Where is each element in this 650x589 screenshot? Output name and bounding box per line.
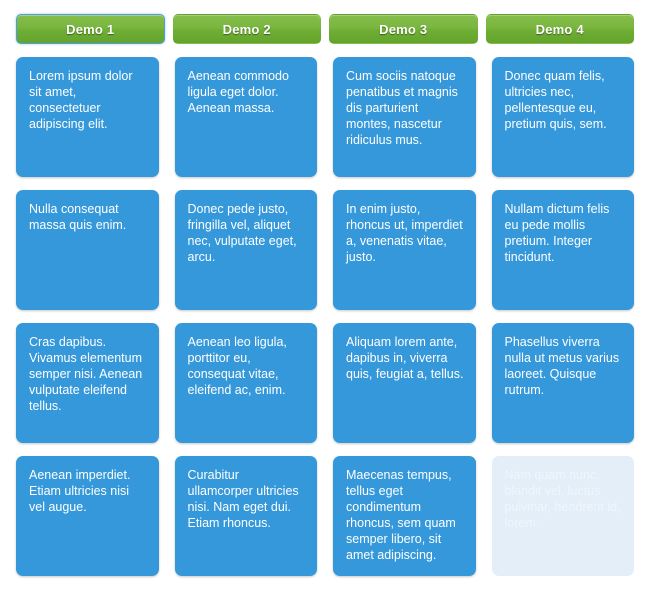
card-r3c1[interactable]: Cras dapibus. Vivamus elementum semper n… [16,323,159,443]
card-r4c1[interactable]: Aenean imperdiet. Etiam ultricies nisi v… [16,456,159,576]
card-text: Aliquam lorem ante, dapibus in, viverra … [346,334,464,382]
card-r3c3[interactable]: Aliquam lorem ante, dapibus in, viverra … [333,323,476,443]
card-r4c2[interactable]: Curabitur ullamcorper ultricies nisi. Na… [175,456,318,576]
tab-demo-4-label: Demo 4 [536,22,584,37]
card-r4c4[interactable]: Nam quam nunc, blandit vel, luctus pulvi… [492,456,635,576]
card-text: Cras dapibus. Vivamus elementum semper n… [29,334,147,414]
tab-demo-3-label: Demo 3 [379,22,427,37]
card-text: Phasellus viverra nulla ut metus varius … [505,334,623,398]
card-r1c1[interactable]: Lorem ipsum dolor sit amet, consectetuer… [16,57,159,177]
card-r4c3[interactable]: Maecenas tempus, tellus eget condimentum… [333,456,476,576]
card-r1c4[interactable]: Donec quam felis, ultricies nec, pellent… [492,57,635,177]
tab-demo-2-label: Demo 2 [223,22,271,37]
card-text: Nullam dictum felis eu pede mollis preti… [505,201,623,265]
card-text: Lorem ipsum dolor sit amet, consectetuer… [29,68,147,132]
card-text: Donec pede justo, fringilla vel, aliquet… [188,201,306,265]
card-r3c2[interactable]: Aenean leo ligula, porttitor eu, consequ… [175,323,318,443]
card-text: Nulla consequat massa quis enim. [29,201,147,233]
card-text: Aenean commodo ligula eget dolor. Aenean… [188,68,306,116]
card-grid-row: Nulla consequat massa quis enim. Donec p… [16,190,634,310]
card-text: Donec quam felis, ultricies nec, pellent… [505,68,623,132]
card-grid-row: Aenean imperdiet. Etiam ultricies nisi v… [16,456,634,576]
card-text: Nam quam nunc, blandit vel, luctus pulvi… [505,467,623,531]
demo-tabs-grid-page: Demo 1 Demo 2 Demo 3 Demo 4 Lorem ipsum … [0,0,650,589]
tab-demo-1-label: Demo 1 [66,22,114,37]
card-grid: Lorem ipsum dolor sit amet, consectetuer… [16,57,634,576]
tab-row: Demo 1 Demo 2 Demo 3 Demo 4 [16,14,634,44]
tab-demo-2[interactable]: Demo 2 [173,14,322,44]
card-text: Aenean imperdiet. Etiam ultricies nisi v… [29,467,147,515]
card-r3c4[interactable]: Phasellus viverra nulla ut metus varius … [492,323,635,443]
card-r1c2[interactable]: Aenean commodo ligula eget dolor. Aenean… [175,57,318,177]
card-text: Aenean leo ligula, porttitor eu, consequ… [188,334,306,398]
card-r2c4[interactable]: Nullam dictum felis eu pede mollis preti… [492,190,635,310]
card-text: Curabitur ullamcorper ultricies nisi. Na… [188,467,306,531]
card-r2c3[interactable]: In enim justo, rhoncus ut, imperdiet a, … [333,190,476,310]
card-text: In enim justo, rhoncus ut, imperdiet a, … [346,201,464,265]
card-grid-row: Lorem ipsum dolor sit amet, consectetuer… [16,57,634,177]
tab-demo-4[interactable]: Demo 4 [486,14,635,44]
card-grid-row: Cras dapibus. Vivamus elementum semper n… [16,323,634,443]
card-text: Maecenas tempus, tellus eget condimentum… [346,467,464,563]
tab-demo-1[interactable]: Demo 1 [16,14,165,44]
card-r1c3[interactable]: Cum sociis natoque penatibus et magnis d… [333,57,476,177]
card-text: Cum sociis natoque penatibus et magnis d… [346,68,464,148]
card-r2c2[interactable]: Donec pede justo, fringilla vel, aliquet… [175,190,318,310]
tab-demo-3[interactable]: Demo 3 [329,14,478,44]
card-r2c1[interactable]: Nulla consequat massa quis enim. [16,190,159,310]
